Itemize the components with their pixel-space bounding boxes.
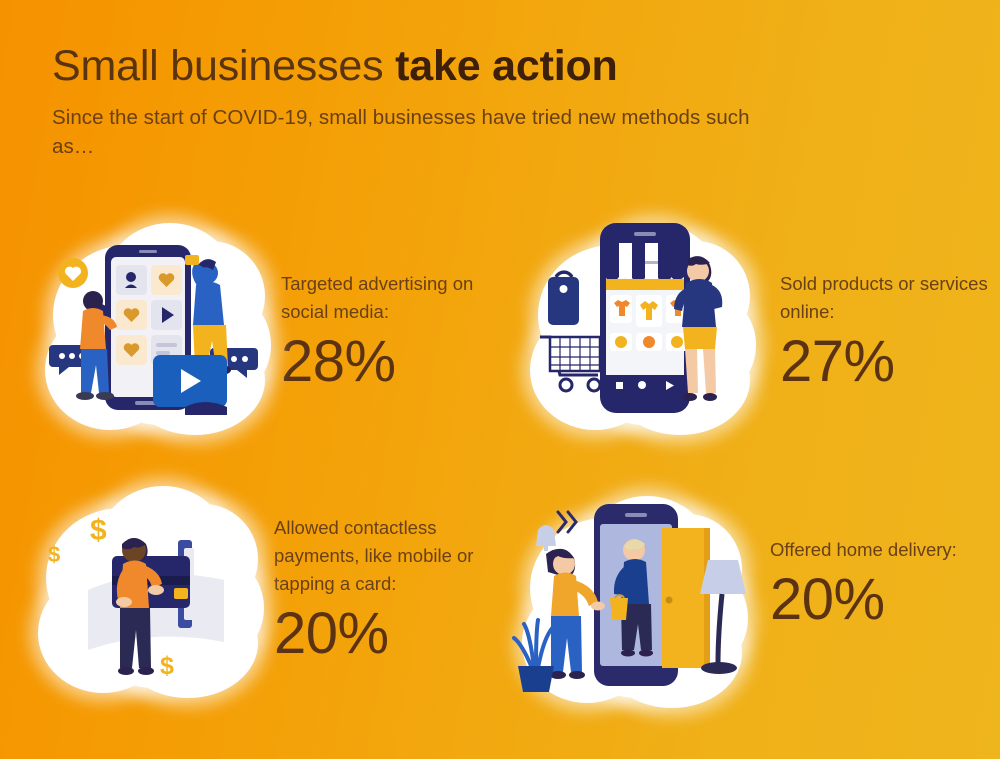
stat-label: Targeted advertising on social media: — [281, 270, 515, 326]
stat-item-targeted-advertising: Targeted advertising on social media: 28… — [35, 215, 515, 477]
stat-value: 28% — [281, 332, 515, 393]
open-door — [662, 528, 710, 668]
social-media-phone-illustration — [35, 215, 275, 440]
home-delivery-door-illustration — [512, 488, 752, 713]
scene — [35, 215, 275, 440]
page-title-regular: Small businesses — [52, 42, 395, 90]
phone-nav-bar — [606, 375, 684, 395]
stat-label: Allowed contactless payments, like mobil… — [274, 514, 508, 598]
contactless-card-payment-illustration: $ $ $ — [28, 478, 268, 703]
infographic-page: Small businesses take action Since the s… — [0, 0, 1000, 759]
stat-value: 27% — [780, 332, 1000, 393]
page-title-bold: take action — [395, 42, 617, 90]
stat-item-contactless-payments: $ $ $ Allowed contactless payments, like… — [28, 478, 508, 740]
stat-value: 20% — [770, 570, 992, 631]
shopping-cart-icon — [540, 337, 600, 391]
stat-text: Allowed contactless payments, like mobil… — [268, 478, 508, 665]
doorbell-icon — [536, 525, 556, 551]
stat-text: Offered home delivery: 20% — [752, 488, 992, 631]
page-subtitle: Since the start of COVID-19, small busin… — [52, 103, 752, 161]
header: Small businesses take action Since the s… — [52, 44, 752, 161]
svg-text:$: $ — [160, 652, 174, 680]
scene — [512, 488, 752, 713]
plant — [514, 620, 554, 692]
play-button-icon — [153, 355, 227, 407]
scene — [520, 215, 760, 440]
stat-item-home-delivery: Offered home delivery: 20% — [512, 488, 992, 750]
heart-badge-icon — [58, 258, 88, 288]
page-title: Small businesses take action — [52, 44, 752, 90]
stat-text: Sold products or services online: 27% — [760, 215, 1000, 393]
stat-item-sold-online: Sold products or services online: 27% — [520, 215, 1000, 477]
stat-text: Targeted advertising on social media: 28… — [275, 215, 515, 393]
motion-lines — [558, 512, 576, 532]
stat-value: 20% — [274, 604, 508, 665]
stat-label: Offered home delivery: — [770, 536, 992, 564]
stats-grid: Targeted advertising on social media: 28… — [0, 205, 1000, 750]
price-tag-icon — [548, 272, 579, 325]
svg-text:$: $ — [90, 514, 107, 547]
stat-label: Sold products or services online: — [780, 270, 1000, 326]
svg-text:$: $ — [48, 542, 60, 567]
online-store-phone-illustration — [520, 215, 760, 440]
scene: $ $ $ — [28, 478, 268, 703]
